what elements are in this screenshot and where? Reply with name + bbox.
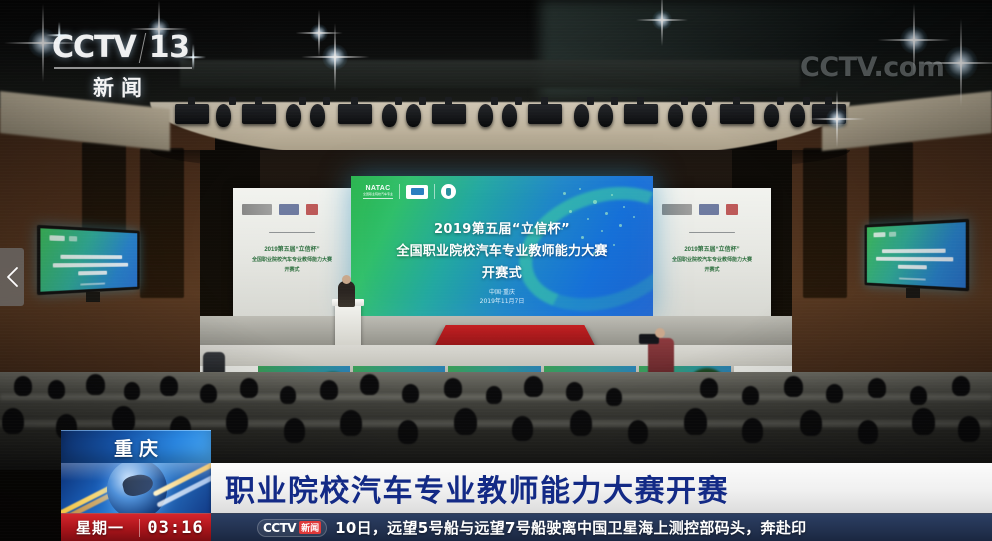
broadcast-frame: 2019第五届“立信杯” 全国职业院校汽车专业教师能力大赛 开赛式 2019第五… <box>0 0 992 541</box>
sponsor-logo-icon <box>441 184 456 199</box>
channel-logo-bug: CCTV 13 新闻 <box>52 30 202 96</box>
cctv-dot-com-watermark: CCTV.com <box>800 52 944 83</box>
banner-text-block: 2019第五届“立信杯” 全国职业院校汽车专业教师能力大赛 开赛式 <box>653 244 771 273</box>
cctv-news-globe-icon <box>61 463 211 513</box>
screen-subtitle-block: 中国·重庆 2019年11月7日 <box>351 288 653 307</box>
stage-lighting-rig <box>0 96 992 142</box>
banner-line-1: 2019第五届“立信杯” <box>233 244 351 253</box>
banner-line-3: 开赛式 <box>233 266 351 273</box>
headline-bar: 职业院校汽车专业教师能力大赛开赛 <box>211 463 992 513</box>
screen-title-line-3: 开赛式 <box>351 262 653 281</box>
chevron-left-icon <box>6 266 19 288</box>
sparkle-icon <box>46 22 72 48</box>
partner-logo-icon <box>406 185 428 199</box>
monitor-stand-left <box>86 292 100 302</box>
presenter <box>338 281 355 307</box>
banner-line-2: 全国职业院校汽车专业教师能力大赛 <box>653 256 771 263</box>
news-ticker: CCTV 新闻 10日，远望5号船与远望7号船驶离中国卫星海上测控部码头，奔赴印 <box>211 513 992 541</box>
ticker-news-label: 新闻 <box>299 521 321 534</box>
natac-logo-icon <box>242 204 272 215</box>
sponsor-logo-icon <box>306 204 318 215</box>
headline-text: 职业院校汽车专业教师能力大赛开赛 <box>211 466 729 510</box>
screen-title-line-2: 全国职业院校汽车专业教师能力大赛 <box>351 240 653 259</box>
stage-banner-right: 2019第五届“立信杯” 全国职业院校汽车专业教师能力大赛 开赛式 <box>653 188 771 320</box>
logo-divider <box>139 33 146 63</box>
screen-title-block: 2019第五届“立信杯” 全国职业院校汽车专业教师能力大赛 开赛式 <box>351 218 653 281</box>
monitor-stand-right <box>906 288 920 298</box>
screen-subtitle-location: 中国·重庆 <box>351 288 653 297</box>
banner-text-block: 2019第五届“立信杯” 全国职业院校汽车专业教师能力大赛 开赛式 <box>233 244 351 273</box>
natac-logo-subtext: 全国职业院校汽车专业 <box>363 193 393 196</box>
weekday-label: 星期一 <box>61 517 139 538</box>
natac-logo-icon <box>662 204 692 215</box>
natac-logo-icon: NATAC 全国职业院校汽车专业 <box>363 185 393 199</box>
partner-logo-icon <box>699 204 719 215</box>
sponsor-logo-icon <box>726 204 738 215</box>
banner-logo-row <box>662 204 738 215</box>
logo-divider <box>434 184 435 199</box>
sparkle-icon <box>180 44 206 70</box>
main-led-screen: NATAC 全国职业院校汽车专业 2019第五届“立信杯” 全国职业院校汽车专业… <box>351 176 653 316</box>
logo-divider <box>399 184 400 199</box>
screen-logo-row: NATAC 全国职业院校汽车专业 <box>363 184 456 199</box>
lower-third: 重庆 星期一 03:16 职业院校汽车专业教师能力大赛开赛 CCTV 新闻 1 <box>0 430 992 541</box>
previous-video-button[interactable] <box>0 248 24 306</box>
logo-underline <box>54 67 192 69</box>
screen-subtitle-date: 2019年11月7日 <box>351 297 653 306</box>
ticker-cctv-wordmark: CCTV <box>263 521 296 535</box>
banner-logo-row <box>242 204 318 215</box>
time-label: 03:16 <box>140 518 211 538</box>
channel-subtitle: 新闻 <box>52 72 190 102</box>
banner-line-3: 开赛式 <box>653 266 771 273</box>
partner-logo-icon <box>279 204 299 215</box>
location-badge: 重庆 <box>61 430 211 463</box>
screen-title-line-1: 2019第五届“立信杯” <box>351 218 653 237</box>
podium <box>335 303 361 351</box>
ticker-text: 10日，远望5号船与远望7号船驶离中国卫星海上测控部码头，奔赴印 <box>335 517 806 538</box>
clock-widget: 星期一 03:16 <box>61 513 211 541</box>
wall-monitor-right <box>865 219 970 292</box>
banner-line-1: 2019第五届“立信杯” <box>653 244 771 253</box>
ticker-cctv-news-badge: CCTV 新闻 <box>257 519 327 537</box>
location-label: 重庆 <box>108 434 164 461</box>
wall-monitor-left <box>37 225 140 295</box>
ceiling-beam <box>180 60 800 88</box>
banner-line-2: 全国职业院校汽车专业教师能力大赛 <box>233 256 351 263</box>
